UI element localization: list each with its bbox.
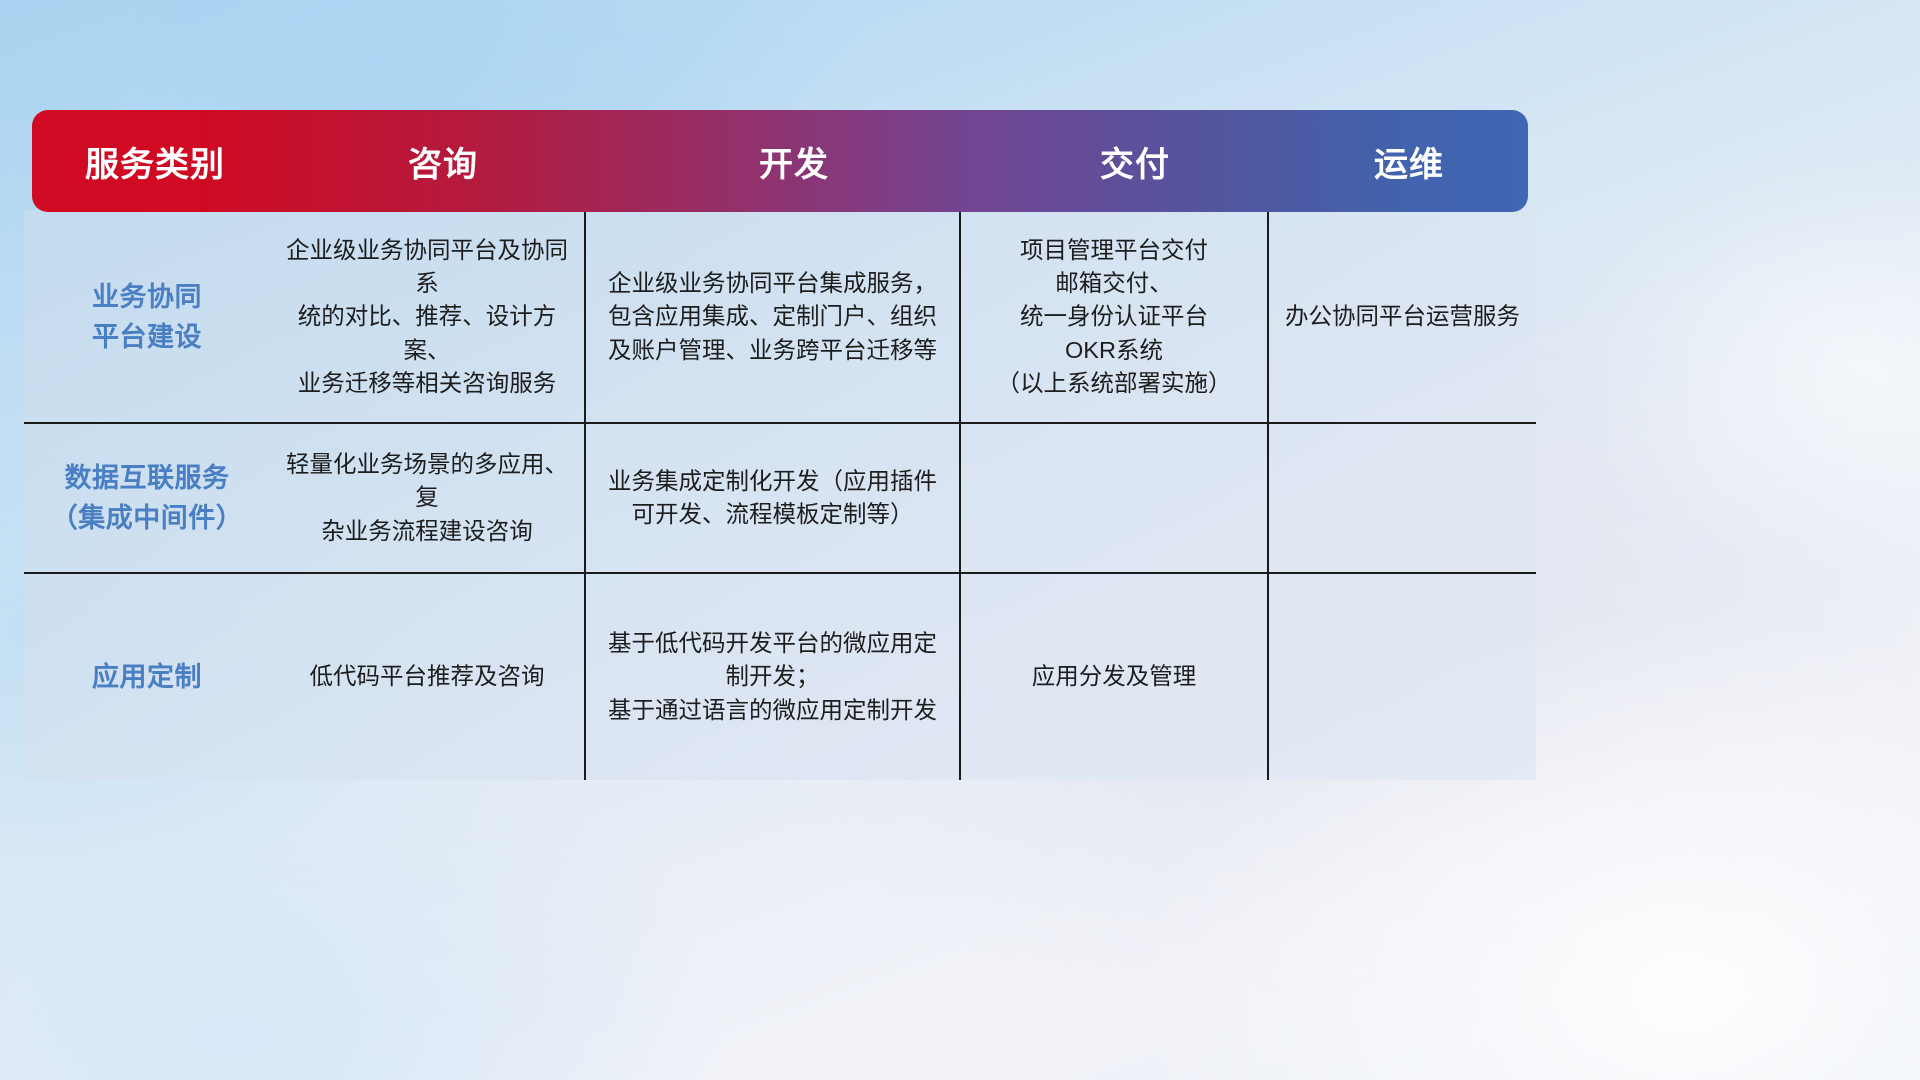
cell-r3-development: 基于低代码开发平台的微应用定 制开发； 基于通过语言的微应用定制开发 xyxy=(586,574,959,780)
table-header-row: 服务类别 咨询 开发 交付 运维 xyxy=(32,110,1528,212)
row-label-data-interconnect: 数据互联服务 （集成中间件） xyxy=(24,424,270,572)
cell-r1-development: 企业级业务协同平台集成服务， 包含应用集成、定制门户、组织 及账户管理、业务跨平… xyxy=(586,212,959,422)
column-header-service-category: 服务类别 xyxy=(32,137,278,186)
cell-r2-delivery xyxy=(961,424,1267,572)
cell-r1-consulting: 企业级业务协同平台及协同系 统的对比、推荐、设计方案、 业务迁移等相关咨询服务 xyxy=(270,212,584,422)
cell-r2-operations xyxy=(1269,424,1536,572)
cell-r3-consulting: 低代码平台推荐及咨询 xyxy=(270,574,584,780)
column-header-operations: 运维 xyxy=(1290,137,1528,186)
service-matrix-table: 服务类别 咨询 开发 交付 运维 业务协同 平台建设 企业级业务协同平台及协同系… xyxy=(24,110,1536,780)
column-header-development: 开发 xyxy=(608,137,980,186)
cell-r2-consulting: 轻量化业务场景的多应用、复 杂业务流程建设咨询 xyxy=(270,424,584,572)
row-label-app-customization: 应用定制 xyxy=(24,574,270,780)
cell-r3-operations xyxy=(1269,574,1536,780)
column-header-delivery: 交付 xyxy=(980,137,1290,186)
cell-r1-operations: 办公协同平台运营服务 xyxy=(1269,212,1536,422)
cell-r3-delivery: 应用分发及管理 xyxy=(961,574,1267,780)
row-label-business-collaboration: 业务协同 平台建设 xyxy=(24,212,270,422)
cell-r2-development: 业务集成定制化开发（应用插件 可开发、流程模板定制等） xyxy=(586,424,959,572)
cell-r1-delivery: 项目管理平台交付 邮箱交付、 统一身份认证平台 OKR系统 （以上系统部署实施） xyxy=(961,212,1267,422)
column-header-consulting: 咨询 xyxy=(278,137,608,186)
